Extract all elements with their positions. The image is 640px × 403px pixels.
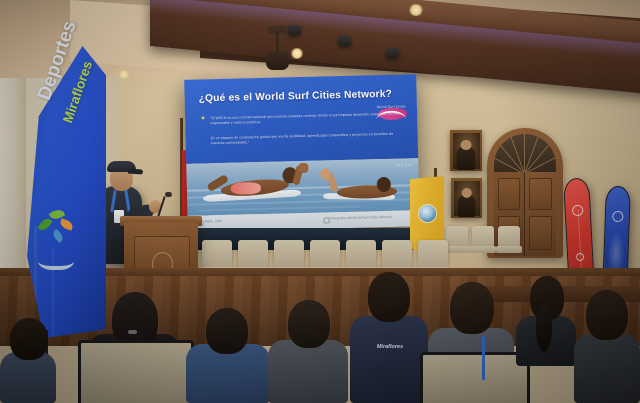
- deportes-miraflores-logo: [36, 210, 78, 270]
- audience-member: [268, 300, 348, 403]
- surfer-shorts: [231, 182, 261, 195]
- hair: [536, 304, 552, 352]
- leaf-icon: [37, 216, 52, 233]
- slide-paragraph-1: "El WSCN es una red internacional que co…: [210, 112, 402, 127]
- wave-icon: [38, 248, 74, 270]
- logo-label: World Surf Cities: [377, 104, 406, 109]
- track-spotlight: [386, 48, 399, 58]
- slide-paragraph-2: Es un espacio de cooperación global que …: [211, 132, 403, 147]
- hair-clip: [128, 330, 137, 334]
- photo-watermark: WSCN: [396, 162, 412, 167]
- flag-emblem: [418, 204, 437, 223]
- chair-foreground: [420, 352, 530, 403]
- speaker-cap-brim: [128, 168, 143, 174]
- surfer-hand: [298, 163, 308, 173]
- track-spotlight: [288, 25, 301, 35]
- leaf-icon: [51, 229, 65, 243]
- wall-portrait: [451, 178, 482, 218]
- audience-member: [186, 308, 270, 403]
- audience-member: [574, 290, 640, 403]
- presentation-photo-scene: ¿Qué es el World Surf Cities Network? Wo…: [0, 0, 640, 403]
- slide-title: ¿Qué es el World Surf Cities Network?: [199, 89, 393, 105]
- chair-foreground: [78, 340, 194, 403]
- projection-screen: ¿Qué es el World Surf Cities Network? Wo…: [184, 74, 420, 232]
- audience-member: [516, 276, 576, 366]
- microphone: [165, 192, 172, 197]
- track-spotlight: [338, 36, 351, 46]
- recessed-light: [118, 70, 130, 79]
- surfer-hand: [320, 168, 330, 179]
- shirt-logo: Miraflores: [366, 344, 414, 350]
- wall-portrait: [450, 130, 482, 171]
- leaf-icon: [59, 218, 74, 230]
- photo-caption-right: Fotografía del World Surf Cities Network: [331, 215, 392, 220]
- audience-member: [0, 318, 56, 403]
- audience-member-branded-shirt: Miraflores: [350, 272, 428, 403]
- lanyard: [482, 336, 485, 380]
- slide-photo: WSCN: [186, 158, 419, 216]
- slide-upper-panel: ¿Qué es el World Surf Cities Network? Wo…: [184, 74, 418, 164]
- recessed-light: [408, 4, 424, 16]
- photo-caption-left: Oahu, 2024: [205, 219, 223, 223]
- bullet-marker: ✦: [200, 115, 206, 122]
- pendant-light: [266, 52, 289, 70]
- recessed-light: [290, 48, 304, 59]
